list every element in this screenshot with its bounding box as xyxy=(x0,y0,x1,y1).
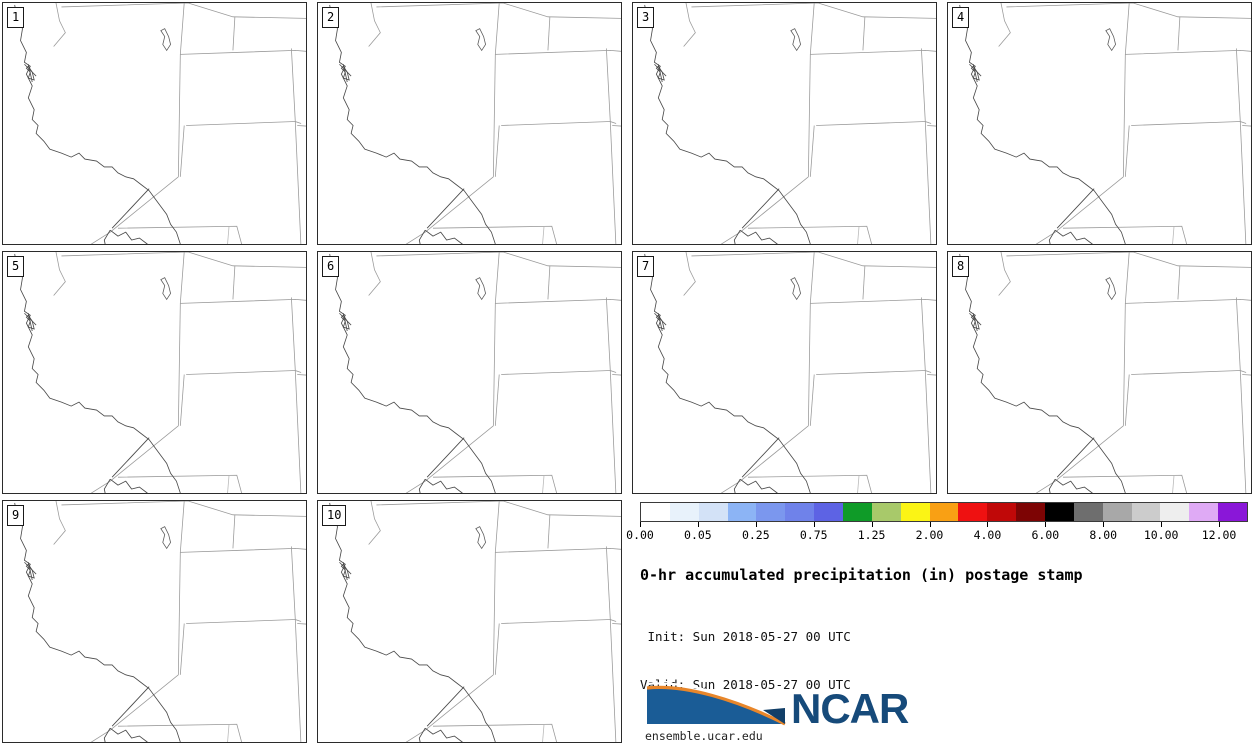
map-graphic xyxy=(3,252,306,493)
colorbar-tick-labels: 0.000.050.250.751.252.004.006.008.0010.0… xyxy=(640,528,1248,544)
colorbar-tick-label: 0.75 xyxy=(800,528,828,542)
stamp-panel-9[interactable]: 9 xyxy=(2,500,307,743)
colorbar-band-1 xyxy=(670,503,699,521)
panel-cell: 6 xyxy=(315,249,630,498)
map-graphic xyxy=(633,3,936,244)
stamp-number-label: 3 xyxy=(637,7,654,28)
colorbar-band-5 xyxy=(785,503,814,521)
colorbar-band-12 xyxy=(987,503,1016,521)
stamp-panel-5[interactable]: 5 xyxy=(2,251,307,494)
colorbar-band-3 xyxy=(728,503,757,521)
panel-cell: 5 xyxy=(0,249,315,498)
colorbar-band-19 xyxy=(1189,503,1218,521)
colorbar-band-4 xyxy=(756,503,785,521)
colorbar-band-10 xyxy=(930,503,959,521)
panel-cell: 10 xyxy=(315,498,630,747)
ncar-wordmark: NCAR xyxy=(791,692,908,726)
colorbar-band-7 xyxy=(843,503,872,521)
colorbar-band-0 xyxy=(641,503,670,521)
init-time: Init: Sun 2018-05-27 00 UTC xyxy=(640,629,1254,645)
stamp-panel-2[interactable]: 2 xyxy=(317,2,622,245)
panel-cell: 3 xyxy=(630,0,945,249)
colorbar-wrap: 0.000.050.250.751.252.004.006.008.0010.0… xyxy=(640,502,1248,544)
colorbar-band-8 xyxy=(872,503,901,521)
map-graphic xyxy=(948,252,1251,493)
stamp-panel-4[interactable]: 4 xyxy=(947,2,1252,245)
stamp-panel-6[interactable]: 6 xyxy=(317,251,622,494)
colorbar-tick xyxy=(1219,522,1220,527)
stamp-panel-3[interactable]: 3 xyxy=(632,2,937,245)
map-graphic xyxy=(3,3,306,244)
colorbar-tick-label: 10.00 xyxy=(1144,528,1179,542)
stamp-number-label: 10 xyxy=(322,505,346,526)
colorbar-tick-label: 4.00 xyxy=(974,528,1002,542)
colorbar-tick-label: 12.00 xyxy=(1202,528,1237,542)
colorbar-tick xyxy=(698,522,699,527)
colorbar-band-14 xyxy=(1045,503,1074,521)
ncar-swoosh-icon xyxy=(645,674,795,726)
map-graphic xyxy=(3,501,306,742)
colorbar-tick-label: 0.25 xyxy=(742,528,770,542)
panel-cell: 2 xyxy=(315,0,630,249)
map-graphic xyxy=(633,252,936,493)
map-graphic xyxy=(318,3,621,244)
colorbar-tick-label: 6.00 xyxy=(1031,528,1059,542)
colorbar-tick xyxy=(1103,522,1104,527)
colorbar-tick-label: 0.00 xyxy=(626,528,654,542)
colorbar-tick xyxy=(930,522,931,527)
stamp-number-label: 7 xyxy=(637,256,654,277)
panel-cell: 4 xyxy=(945,0,1260,249)
colorbar-band-11 xyxy=(958,503,987,521)
colorbar-tick-label: 1.25 xyxy=(858,528,886,542)
colorbar-tick-label: 8.00 xyxy=(1089,528,1117,542)
colorbar-band-18 xyxy=(1160,503,1189,521)
colorbar-band-17 xyxy=(1132,503,1161,521)
map-graphic xyxy=(948,3,1251,244)
colorbar-band-6 xyxy=(814,503,843,521)
colorbar-band-2 xyxy=(699,503,728,521)
stamp-number-label: 8 xyxy=(952,256,969,277)
stamp-panel-8[interactable]: 8 xyxy=(947,251,1252,494)
stamp-panel-1[interactable]: 1 xyxy=(2,2,307,245)
map-graphic xyxy=(318,252,621,493)
colorbar-tick xyxy=(1045,522,1046,527)
stamp-panel-7[interactable]: 7 xyxy=(632,251,937,494)
colorbar-tick xyxy=(1161,522,1162,527)
ncar-logo[interactable]: NCAR ensemble.ucar.edu xyxy=(645,674,908,743)
precipitation-colorbar xyxy=(640,502,1248,522)
colorbar-tick xyxy=(987,522,988,527)
stamp-number-label: 2 xyxy=(322,7,339,28)
stamp-panel-10[interactable]: 10 xyxy=(317,500,622,743)
colorbar-band-9 xyxy=(901,503,930,521)
map-graphic xyxy=(318,501,621,742)
stamp-number-label: 1 xyxy=(7,7,24,28)
panel-cell: 8 xyxy=(945,249,1260,498)
panel-cell: 7 xyxy=(630,249,945,498)
colorbar-tick-label: 0.05 xyxy=(684,528,712,542)
colorbar-band-20 xyxy=(1218,503,1247,521)
stamp-number-label: 4 xyxy=(952,7,969,28)
colorbar-band-15 xyxy=(1074,503,1103,521)
stamp-number-label: 5 xyxy=(7,256,24,277)
stamp-number-label: 9 xyxy=(7,505,24,526)
colorbar-band-13 xyxy=(1016,503,1045,521)
plot-title: 0-hr accumulated precipitation (in) post… xyxy=(640,566,1254,584)
panel-cell: 1 xyxy=(0,0,315,249)
legend-block: 0.000.050.250.751.252.004.006.008.0010.0… xyxy=(640,502,1254,746)
colorbar-tick xyxy=(814,522,815,527)
colorbar-tick xyxy=(756,522,757,527)
colorbar-tick-label: 2.00 xyxy=(916,528,944,542)
colorbar-tick xyxy=(872,522,873,527)
panel-cell: 9 xyxy=(0,498,315,747)
stamp-number-label: 6 xyxy=(322,256,339,277)
colorbar-band-16 xyxy=(1103,503,1132,521)
colorbar-tick xyxy=(640,522,641,527)
